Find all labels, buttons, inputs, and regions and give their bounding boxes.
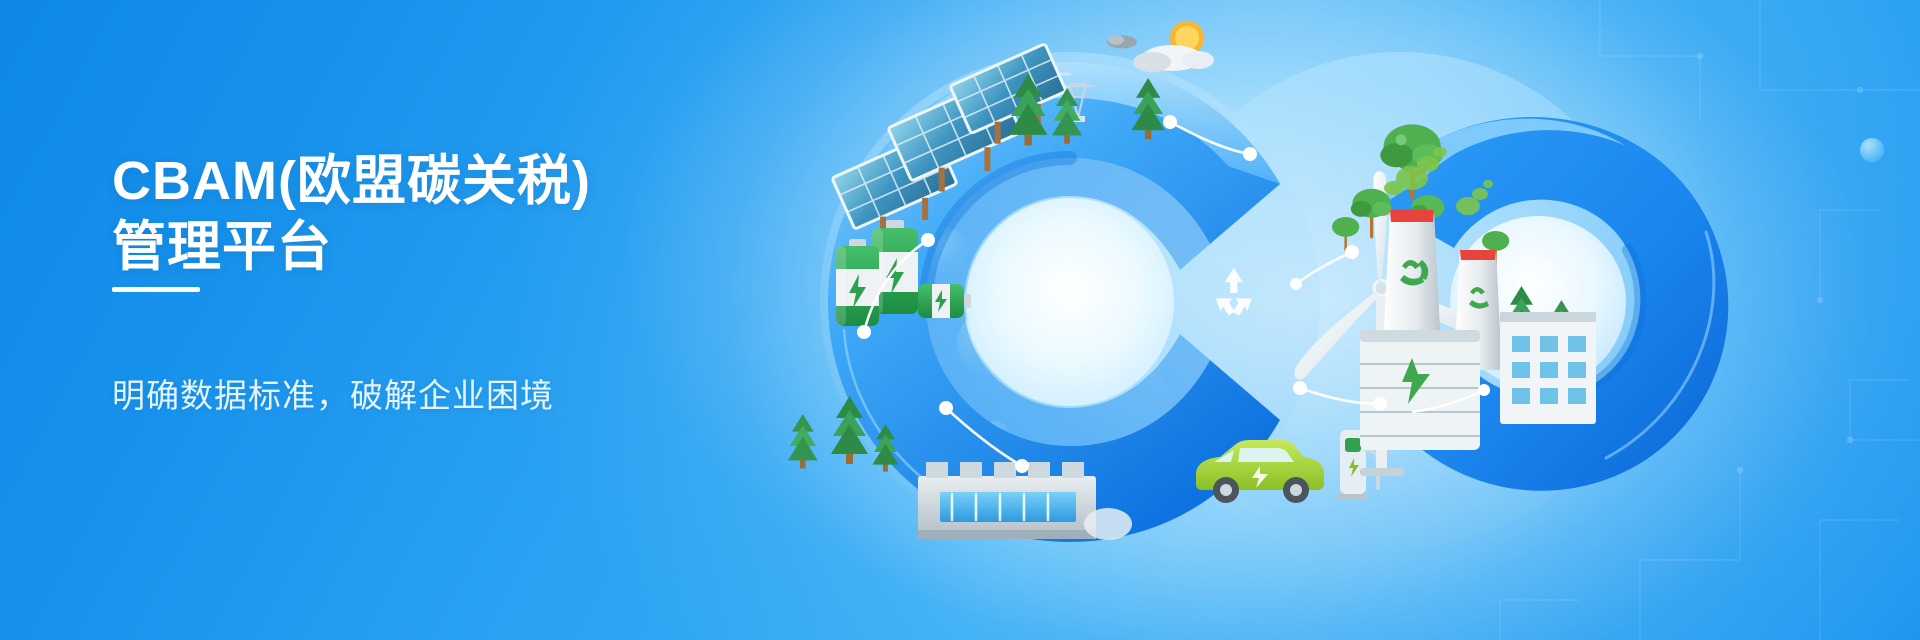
- storage-silo-icon: [1360, 330, 1480, 450]
- page-subtitle: 明确数据标准，破解企业困境: [112, 373, 772, 419]
- hero-text-block: CBAM(欧盟碳关税) 管理平台 明确数据标准，破解企业困境: [0, 0, 760, 640]
- title-divider: [112, 287, 200, 292]
- hero-illustration: [740, 0, 1920, 640]
- page-title: CBAM(欧盟碳关税) 管理平台: [112, 148, 752, 280]
- cbam-hero-banner: CBAM(欧盟碳关税) 管理平台 明确数据标准，破解企业困境: [0, 0, 1920, 640]
